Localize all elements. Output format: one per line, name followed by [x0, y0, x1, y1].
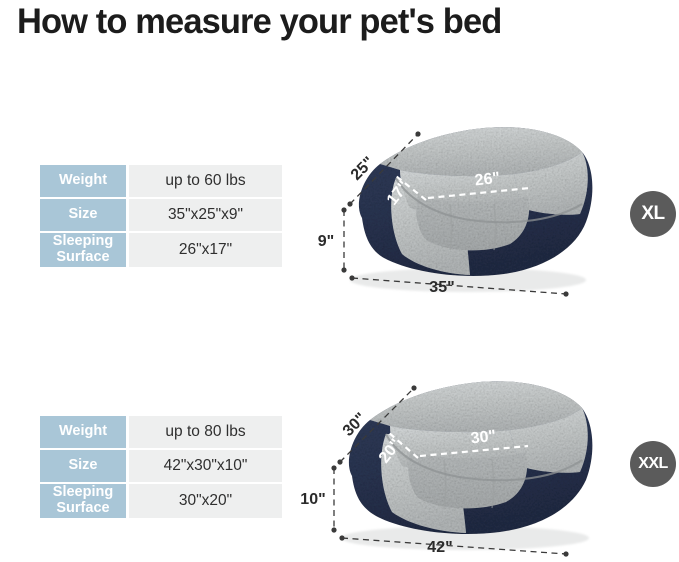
- spec-label-sleeping-surface: Sleeping Surface: [40, 484, 126, 518]
- table-row: Size 35"x25"x9": [40, 199, 282, 233]
- spec-table-xl: Weight up to 60 lbs Size 35"x25"x9" Slee…: [40, 165, 282, 267]
- pet-bed-photo-xl: 25" 9" 35" 17" 26": [318, 92, 618, 304]
- table-row: Sleeping Surface 30"x20": [40, 484, 282, 518]
- table-row: Weight up to 60 lbs: [40, 165, 282, 199]
- spec-label-size: Size: [40, 450, 126, 484]
- dim-label-width-xxl: 42": [427, 539, 452, 556]
- dim-label-inner-width-xl: 26": [474, 170, 501, 190]
- spec-label-text: Weight: [40, 173, 126, 189]
- spec-value-size: 42"x30"x10": [126, 450, 282, 484]
- spec-label-weight: Weight: [40, 165, 126, 199]
- spec-label-text-line2: Surface: [40, 501, 126, 517]
- size-badge-xxl: XXL: [630, 441, 676, 487]
- spec-value-weight: up to 60 lbs: [126, 165, 282, 199]
- size-badge-xl: XL: [630, 191, 676, 237]
- spec-label-text: Size: [40, 458, 126, 474]
- spec-value-sleeping-surface: 30"x20": [126, 484, 282, 518]
- dim-label-inner-width-xxl: 30": [470, 428, 497, 448]
- spec-table-xxl: Weight up to 80 lbs Size 42"x30"x10" Sle…: [40, 416, 282, 518]
- dim-label-height-xl: 9": [318, 233, 334, 250]
- spec-value-size: 35"x25"x9": [126, 199, 282, 233]
- spec-value-weight: up to 80 lbs: [126, 416, 282, 450]
- spec-label-text-line2: Surface: [40, 250, 126, 266]
- spec-label-size: Size: [40, 199, 126, 233]
- spec-label-text: Weight: [40, 424, 126, 440]
- table-row: Sleeping Surface 26"x17": [40, 233, 282, 267]
- spec-label-text: Size: [40, 207, 126, 223]
- spec-label-text-line1: Sleeping: [40, 234, 126, 250]
- spec-value-sleeping-surface: 26"x17": [126, 233, 282, 267]
- spec-label-text-line1: Sleeping: [40, 485, 126, 501]
- spec-label-sleeping-surface: Sleeping Surface: [40, 233, 126, 267]
- spec-label-weight: Weight: [40, 416, 126, 450]
- dim-label-height-xxl: 10": [300, 491, 325, 508]
- pet-bed-photo-xxl: 30" 10" 42" 20" 30": [300, 348, 620, 560]
- page-title: How to measure your pet's bed: [17, 2, 501, 42]
- dim-label-width-xl: 35": [429, 279, 454, 296]
- table-row: Size 42"x30"x10": [40, 450, 282, 484]
- table-row: Weight up to 80 lbs: [40, 416, 282, 450]
